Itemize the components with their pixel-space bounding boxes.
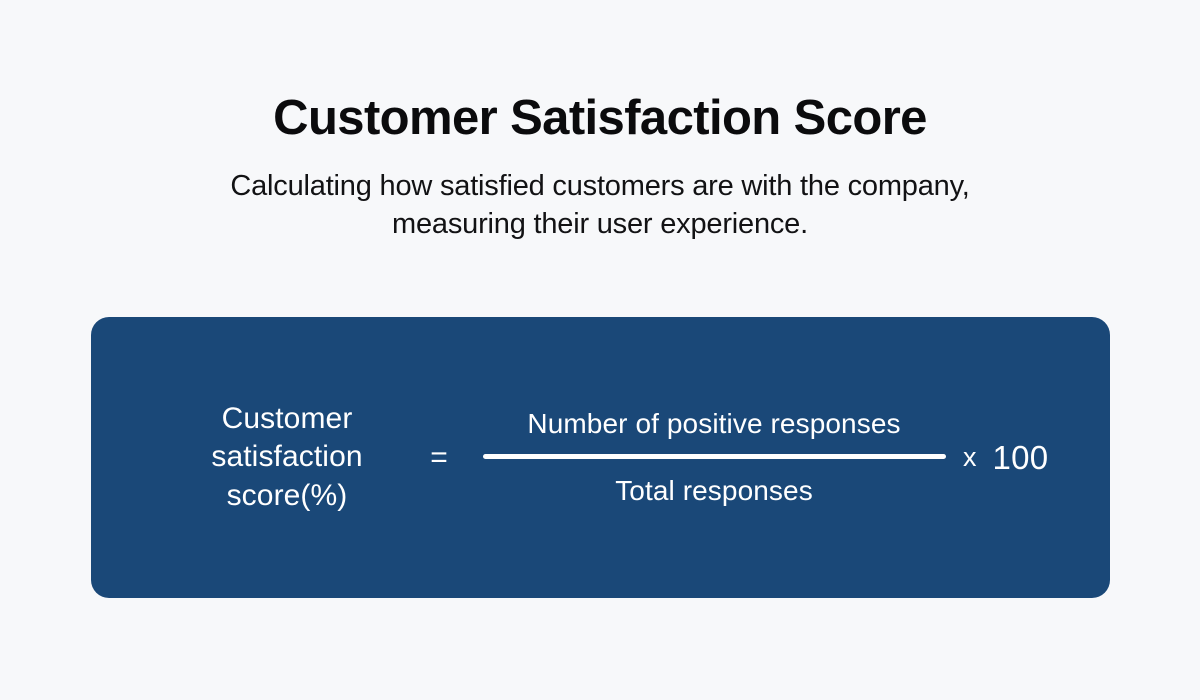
formula-label-line-3: score(%) xyxy=(177,477,397,515)
multiply-value: 100 xyxy=(993,441,1049,474)
fraction-bar-icon xyxy=(483,454,946,459)
fraction-denominator: Total responses xyxy=(615,474,813,508)
fraction: Number of positive responses Total respo… xyxy=(481,407,947,507)
page-title: Customer Satisfaction Score xyxy=(0,92,1200,145)
multiplier-group: x 100 xyxy=(963,441,1048,474)
equals-sign: = xyxy=(397,443,481,473)
infographic-page: Customer Satisfaction Score Calculating … xyxy=(0,0,1200,700)
page-subtitle: Calculating how satisfied customers are … xyxy=(220,167,980,244)
fraction-numerator: Number of positive responses xyxy=(527,407,900,441)
formula-card: Customer satisfaction score(%) = Number … xyxy=(91,317,1110,598)
header: Customer Satisfaction Score Calculating … xyxy=(0,92,1200,243)
formula-label-line-1: Customer xyxy=(177,400,397,438)
formula-left-label: Customer satisfaction score(%) xyxy=(177,400,397,515)
formula-label-line-2: satisfaction xyxy=(177,438,397,476)
formula-expression: Customer satisfaction score(%) = Number … xyxy=(91,317,1110,598)
multiply-icon: x xyxy=(963,444,977,471)
